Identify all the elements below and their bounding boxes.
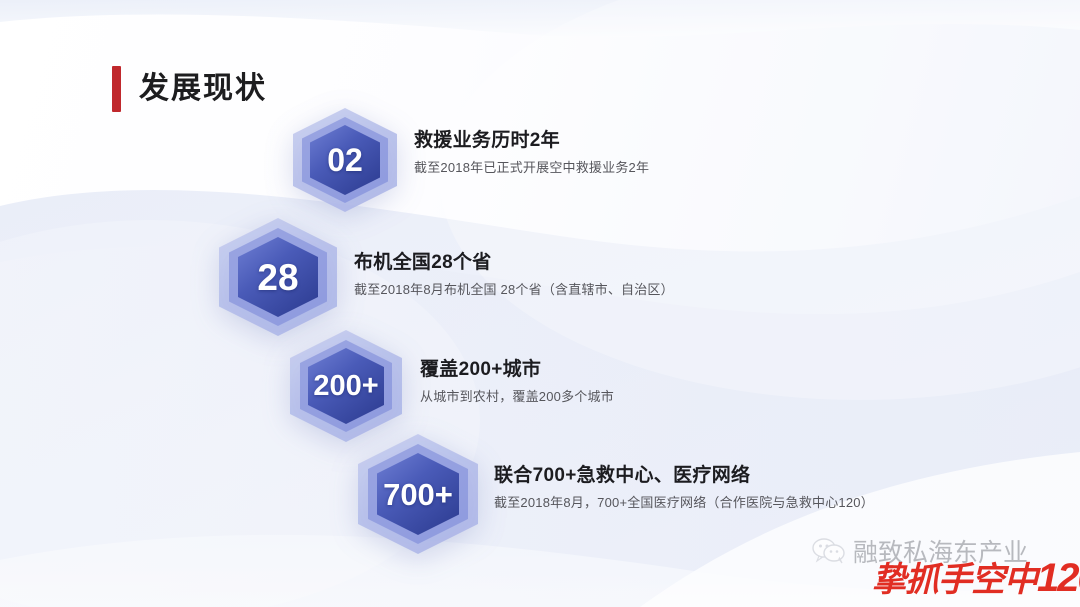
stat-heading: 布机全国28个省 bbox=[354, 251, 674, 275]
stat-subtitle: 截至2018年8月布机全国 28个省（含直辖市、自治区） bbox=[354, 282, 674, 299]
wechat-icon bbox=[812, 538, 846, 564]
hex-badge-number: 28 bbox=[257, 259, 298, 296]
stat-text-block: 布机全国28个省 截至2018年8月布机全国 28个省（含直辖市、自治区） bbox=[354, 251, 674, 299]
stat-heading: 联合700+急救中心、医疗网络 bbox=[494, 464, 874, 488]
slide-canvas: 发展现状 02 救援业务历时2年 截至2018年已正式开展空中救援业务2年 28… bbox=[0, 0, 1080, 607]
brand-logo-watermark: 挚抓手空中120 bbox=[872, 552, 1080, 601]
hex-badge-28: 28 bbox=[219, 218, 337, 336]
title-label: 发展现状 bbox=[139, 74, 267, 104]
title-accent-bar bbox=[112, 66, 121, 112]
stat-heading: 覆盖200+城市 bbox=[420, 358, 614, 382]
brand-logo-number: 120 bbox=[1037, 556, 1080, 600]
stat-text-block: 覆盖200+城市 从城市到农村，覆盖200多个城市 bbox=[420, 358, 614, 406]
stat-subtitle: 截至2018年已正式开展空中救援业务2年 bbox=[414, 160, 649, 177]
hex-badge-number: 700+ bbox=[383, 479, 453, 510]
stat-subtitle: 从城市到农村，覆盖200多个城市 bbox=[420, 389, 614, 406]
stat-heading: 救援业务历时2年 bbox=[414, 129, 649, 153]
stat-text-block: 联合700+急救中心、医疗网络 截至2018年8月，700+全国医疗网络（合作医… bbox=[494, 464, 874, 512]
stat-text-block: 救援业务历时2年 截至2018年已正式开展空中救援业务2年 bbox=[414, 129, 649, 177]
page-title: 发展现状 bbox=[112, 66, 267, 112]
hex-badge-number: 02 bbox=[327, 144, 363, 176]
brand-logo-text: 挚抓手空中 bbox=[872, 561, 1037, 599]
hex-badge-700plus: 700+ bbox=[358, 434, 478, 554]
stat-subtitle: 截至2018年8月，700+全国医疗网络（合作医院与急救中心120） bbox=[494, 495, 874, 512]
hex-badge-number: 200+ bbox=[313, 372, 378, 401]
hex-badge-02: 02 bbox=[293, 108, 397, 212]
hex-badge-200plus: 200+ bbox=[290, 330, 402, 442]
